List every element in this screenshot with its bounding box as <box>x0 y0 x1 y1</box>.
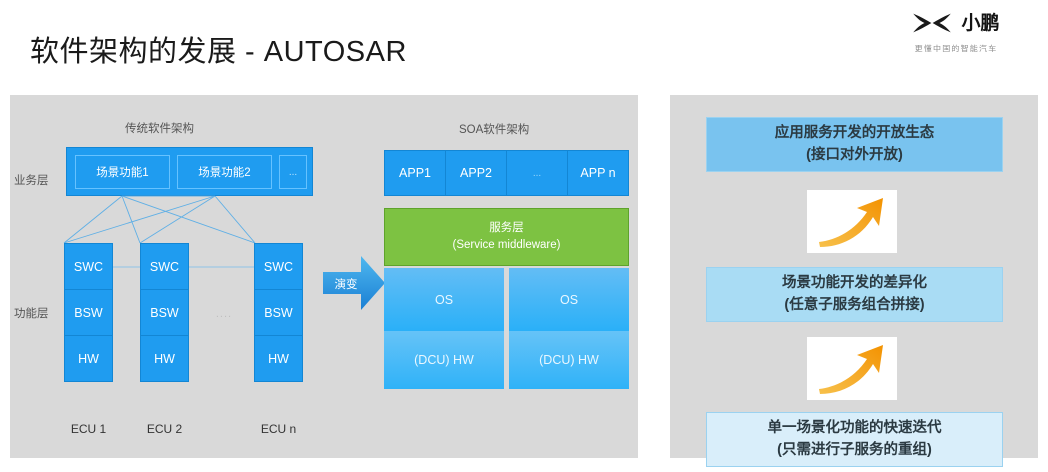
row-label-function-layer: 功能层 <box>14 305 49 321</box>
dcu-os-cell: OS <box>509 268 629 331</box>
dcu-hw-cell: (DCU) HW <box>384 331 504 389</box>
ecu-cell-bsw: BSW <box>140 289 189 336</box>
evolution-label: 演变 <box>327 276 365 292</box>
page-title: 软件架构的发展 - AUTOSAR <box>30 28 407 70</box>
ecu-cell-bsw: BSW <box>64 289 113 336</box>
callout-line-1: 场景功能开发的差异化 <box>782 273 927 294</box>
callout-line-1: 单一场景化功能的快速迭代 <box>768 418 942 439</box>
app-layer-row: APP1 APP2 ... APP n <box>384 150 629 196</box>
ecu-cell-swc: SWC <box>64 243 113 290</box>
evolution-arrow: 演变 <box>321 252 387 314</box>
ecu-stack-2: SWC BSW HW <box>140 243 189 381</box>
ecu-gap-dots: .... <box>204 308 244 320</box>
ecu-cell-hw: HW <box>140 335 189 382</box>
dcu-stack-2: OS (DCU) HW <box>509 268 629 389</box>
callout-line-2: (接口对外开放) <box>806 145 903 166</box>
benefits-panel: 应用服务开发的开放生态 (接口对外开放) 场景功能开发的差异化 (任意子服务组合… <box>670 95 1038 458</box>
ecu-stack-3: SWC BSW HW <box>254 243 303 381</box>
callout-differentiation: 场景功能开发的差异化 (任意子服务组合拼接) <box>706 267 1003 322</box>
brand-tagline: 更懂中国的智能汽车 <box>886 43 1026 53</box>
ecu-cell-bsw: BSW <box>254 289 303 336</box>
architecture-diagram-panel: 传统软件架构 SOA软件架构 业务层 功能层 场景功能1 场景功能2 ... <box>10 95 638 458</box>
business-layer-box: 场景功能1 场景功能2 ... <box>66 147 313 196</box>
callout-open-ecosystem: 应用服务开发的开放生态 (接口对外开放) <box>706 117 1003 172</box>
app-cell-2: APP2 <box>446 151 507 195</box>
ecu-label-2: ECU 2 <box>140 422 189 436</box>
service-layer-subtitle: (Service middleware) <box>452 237 560 254</box>
service-middleware-box: 服务层 (Service middleware) <box>384 208 629 266</box>
callout-line-1: 应用服务开发的开放生态 <box>775 123 935 144</box>
ecu-label-3: ECU n <box>254 422 303 436</box>
ecu-stack-1: SWC BSW HW <box>64 243 113 381</box>
ecu-cell-hw: HW <box>64 335 113 382</box>
app-cell-more: ... <box>507 151 568 195</box>
dcu-stack-1: OS (DCU) HW <box>384 268 504 389</box>
ecu-cell-swc: SWC <box>254 243 303 290</box>
service-layer-title: 服务层 <box>489 220 524 237</box>
brand-logo: 小鹏 更懂中国的智能汽车 <box>886 8 1026 54</box>
ecu-cell-swc: SWC <box>140 243 189 290</box>
dcu-os-cell: OS <box>384 268 504 331</box>
scenario-function-more-cell: ... <box>279 155 307 189</box>
scenario-function-1-cell: 场景功能1 <box>75 155 170 189</box>
callout-line-2: (只需进行子服务的重组) <box>777 440 932 461</box>
app-cell-1: APP1 <box>385 151 446 195</box>
dcu-hw-cell: (DCU) HW <box>509 331 629 389</box>
upward-trend-arrow-icon <box>807 190 897 253</box>
traditional-architecture-heading: 传统软件架构 <box>125 120 194 136</box>
scenario-function-2-cell: 场景功能2 <box>177 155 272 189</box>
soa-architecture-heading: SOA软件架构 <box>459 121 529 137</box>
ecu-cell-hw: HW <box>254 335 303 382</box>
brand-name: 小鹏 <box>961 14 999 33</box>
callout-line-2: (任意子服务组合拼接) <box>784 295 924 316</box>
upward-trend-arrow-icon <box>807 337 897 400</box>
slide-root: 软件架构的发展 - AUTOSAR 小鹏 更懂中国的智能汽车 传统软件架构 SO… <box>0 0 1048 472</box>
xpeng-logo-icon <box>912 12 952 34</box>
callout-fast-iteration: 单一场景化功能的快速迭代 (只需进行子服务的重组) <box>706 412 1003 467</box>
app-cell-n: APP n <box>568 151 628 195</box>
ecu-label-1: ECU 1 <box>64 422 113 436</box>
row-label-business-layer: 业务层 <box>14 172 49 188</box>
